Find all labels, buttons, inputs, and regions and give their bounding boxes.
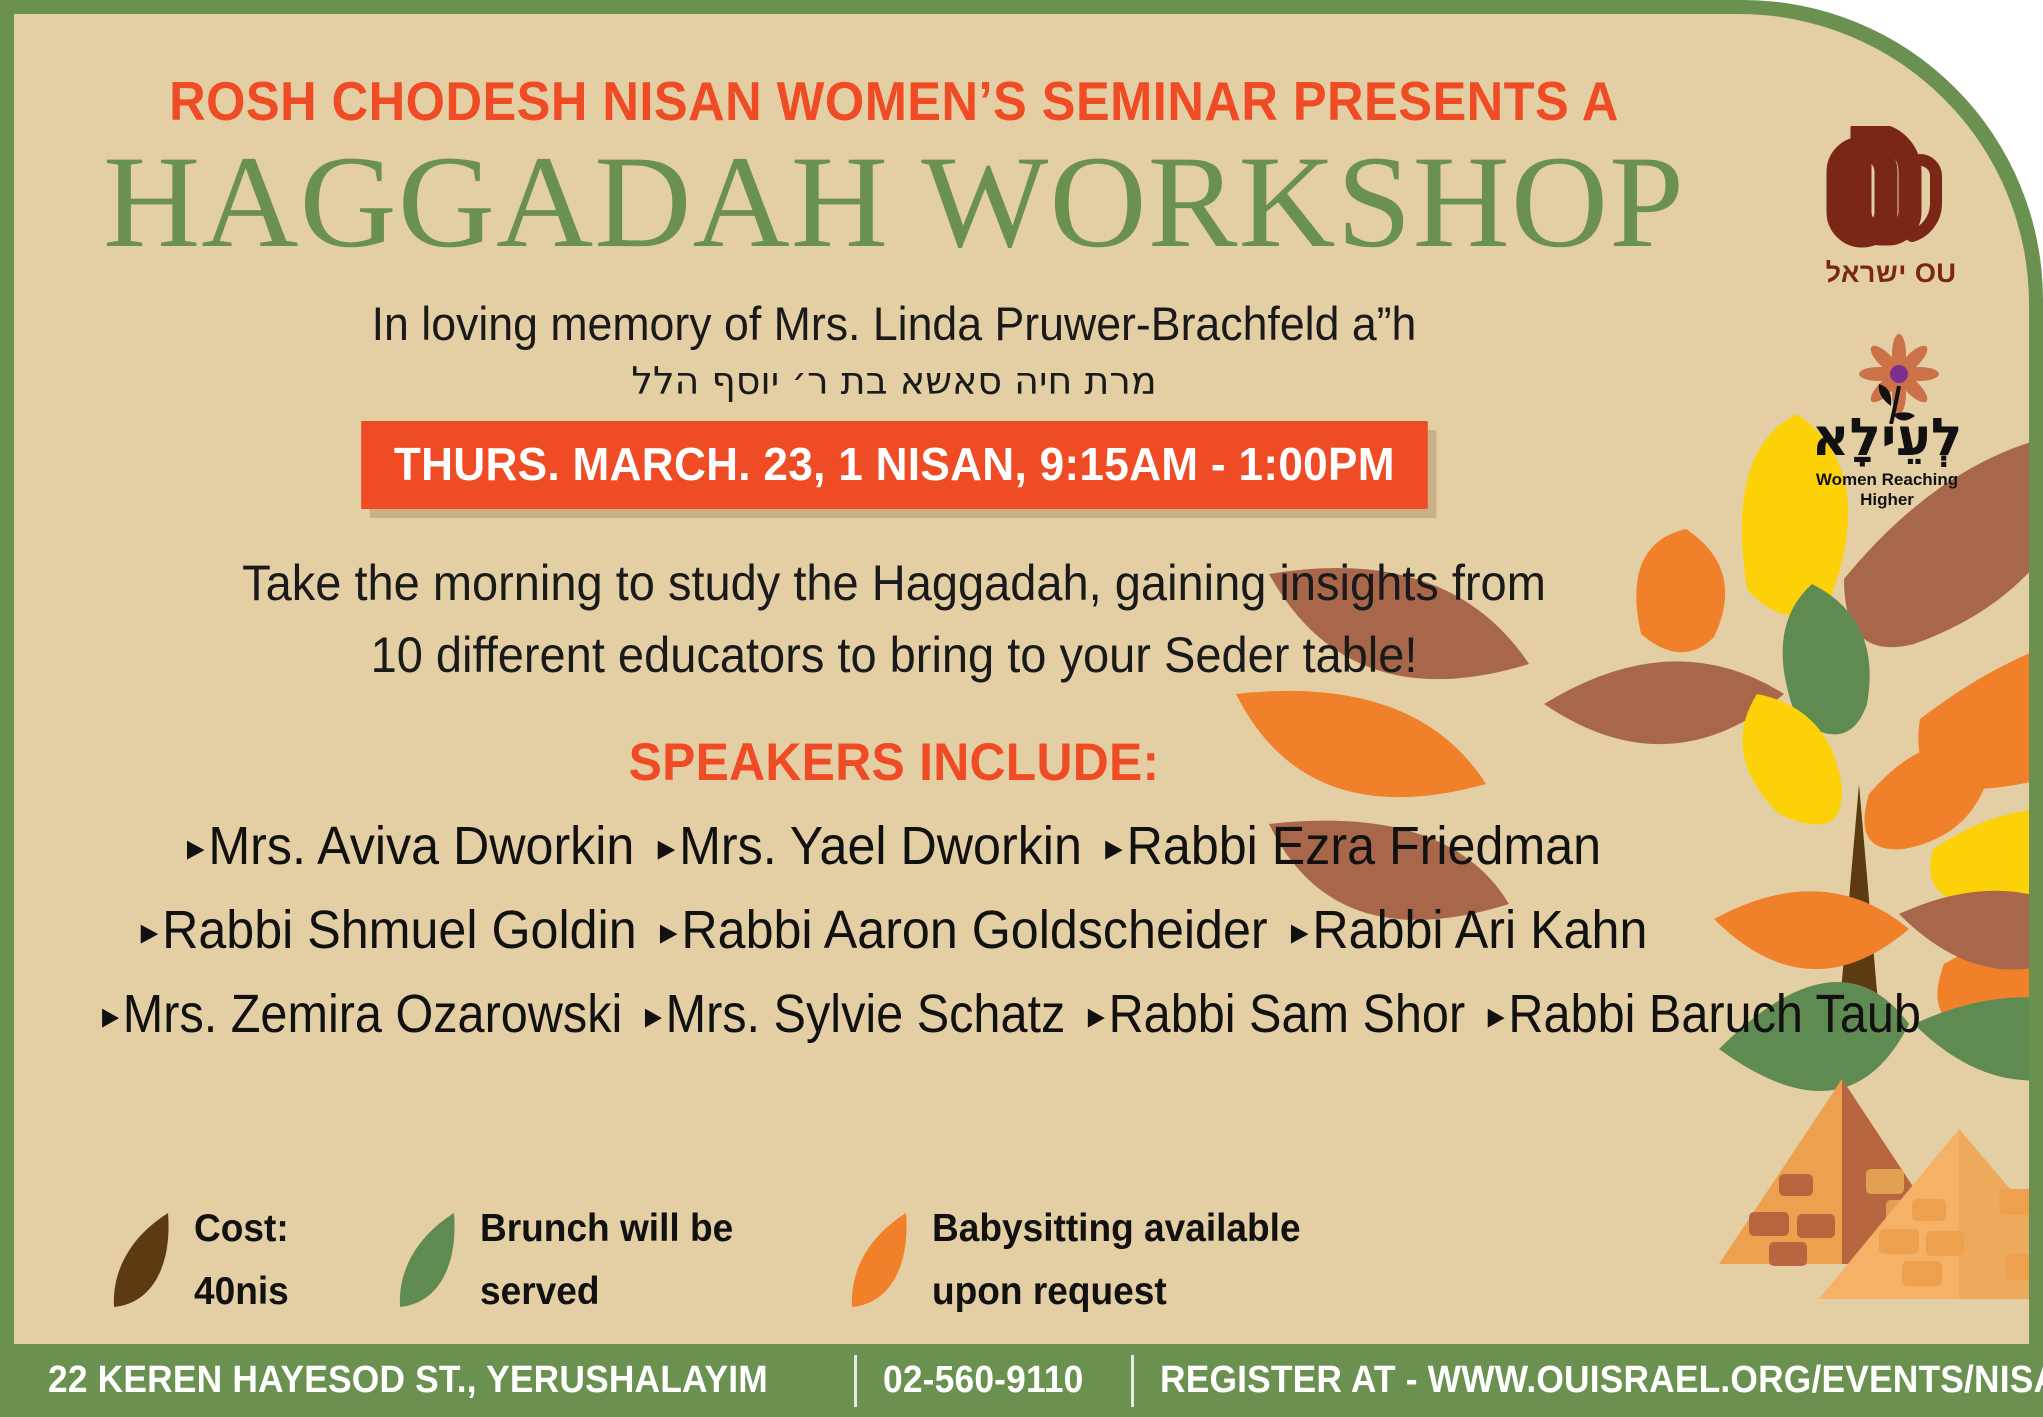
poster-body: OU ישראל לְעֵילָא Wom xyxy=(14,14,2029,1344)
info-item-text: Brunch will beserved xyxy=(480,1197,733,1323)
info-item: Brunch will beserved xyxy=(396,1197,747,1323)
caret-right-icon: ▸ xyxy=(187,827,205,869)
leila-hebrew-name: לְעֵילָא xyxy=(1787,412,1987,464)
leaf-icon-brown xyxy=(110,1211,172,1309)
caret-right-icon: ▸ xyxy=(658,827,676,869)
ou-monogram-icon xyxy=(1816,126,1966,256)
info-item-line-1: Cost: xyxy=(194,1197,289,1260)
info-item-line-2: upon request xyxy=(932,1260,1301,1323)
speakers-row-2: ▸Rabbi Shmuel Goldin ▸Rabbi Aaron Goldsc… xyxy=(76,899,1713,961)
speaker-name: Rabbi Baruch Taub xyxy=(1508,983,1920,1045)
caret-right-icon: ▸ xyxy=(645,995,662,1037)
info-item: Babysitting availableupon request xyxy=(848,1197,1320,1323)
info-item-text: Cost:40nis xyxy=(194,1197,289,1323)
info-strip: Cost:40nisBrunch will beservedBabysittin… xyxy=(110,1197,1610,1323)
leila-tagline: Women Reaching Higher xyxy=(1787,470,1987,510)
footer-phone[interactable]: 02-560-9110 xyxy=(883,1359,1084,1402)
info-item: Cost:40nis xyxy=(110,1197,294,1323)
info-item-line-1: Brunch will be xyxy=(480,1197,733,1260)
caret-right-icon: ▸ xyxy=(141,911,159,953)
info-item-text: Babysitting availableupon request xyxy=(932,1197,1301,1323)
speaker-name: Rabbi Aaron Goldscheider xyxy=(681,899,1267,961)
caret-right-icon: ▸ xyxy=(1488,995,1505,1037)
footer-divider-2 xyxy=(1131,1355,1134,1407)
kicker-text: ROSH CHODESH NISAN WOMEN’S SEMINAR PRESE… xyxy=(84,69,1703,133)
description-line-2: 10 different educators to bring to your … xyxy=(67,619,1721,692)
flyer-poster: OU ישראל לְעֵילָא Wom xyxy=(0,0,2043,1417)
speaker-name: Mrs. Zemira Ozarowski xyxy=(123,983,623,1045)
date-time-banner: THURS. MARCH. 23, 1 NISAN, 9:15AM - 1:00… xyxy=(361,421,1427,509)
speaker-name: Mrs. Yael Dworkin xyxy=(679,815,1082,877)
info-item-line-2: 40nis xyxy=(194,1260,289,1323)
main-content: ROSH CHODESH NISAN WOMEN’S SEMINAR PRESE… xyxy=(14,14,1774,1045)
speaker-name: Rabbi Sam Shor xyxy=(1109,983,1466,1045)
footer-divider-1 xyxy=(854,1355,857,1407)
description-text: Take the morning to study the Haggadah, … xyxy=(67,547,1721,692)
date-banner-wrap: THURS. MARCH. 23, 1 NISAN, 9:15AM - 1:00… xyxy=(14,421,1774,509)
speakers-row-1: ▸Mrs. Aviva Dworkin ▸Mrs. Yael Dworkin ▸… xyxy=(76,815,1713,877)
speakers-heading: SPEAKERS INCLUDE: xyxy=(67,732,1721,793)
caret-right-icon: ▸ xyxy=(1088,995,1105,1037)
memorial-line-english: In loving memory of Mrs. Linda Pruwer-Br… xyxy=(58,296,1730,351)
caret-right-icon: ▸ xyxy=(660,911,678,953)
description-line-1: Take the morning to study the Haggadah, … xyxy=(67,547,1721,620)
info-item-line-2: served xyxy=(480,1260,733,1323)
footer-register-url[interactable]: REGISTER AT - WWW.OUISRAEL.ORG/EVENTS/NI… xyxy=(1160,1359,2043,1402)
caret-right-icon: ▸ xyxy=(1105,827,1123,869)
memorial-line-hebrew: מרת חיה סאשא בת ר׳ יוסף הלל xyxy=(14,359,1774,403)
leaf-icon-orange xyxy=(848,1211,910,1309)
footer-bar: 22 KEREN HAYESOD ST., YERUSHALAYIM 02-56… xyxy=(0,1344,2043,1417)
speaker-name: Mrs. Sylvie Schatz xyxy=(666,983,1066,1045)
speaker-name: Rabbi Ezra Friedman xyxy=(1127,815,1602,877)
speaker-name: Mrs. Aviva Dworkin xyxy=(208,815,634,877)
caret-right-icon: ▸ xyxy=(102,995,119,1037)
speaker-name: Rabbi Shmuel Goldin xyxy=(162,899,637,961)
caret-right-icon: ▸ xyxy=(1291,911,1309,953)
speaker-name: Rabbi Ari Kahn xyxy=(1312,899,1647,961)
ou-logo-caption: OU ישראל xyxy=(1801,258,1981,289)
footer-address: 22 KEREN HAYESOD ST., YERUSHALAYIM xyxy=(48,1359,768,1402)
speakers-row-3: ▸Mrs. Zemira Ozarowski ▸Mrs. Sylvie Scha… xyxy=(102,983,1686,1045)
page-title: HAGGADAH WORKSHOP xyxy=(14,135,1792,270)
leaf-icon-green xyxy=(396,1211,458,1309)
leila-logo: לְעֵילָא Women Reaching Higher xyxy=(1787,332,1987,510)
ou-israel-logo: OU ישראל xyxy=(1801,126,1981,289)
info-item-line-1: Babysitting available xyxy=(932,1197,1301,1260)
